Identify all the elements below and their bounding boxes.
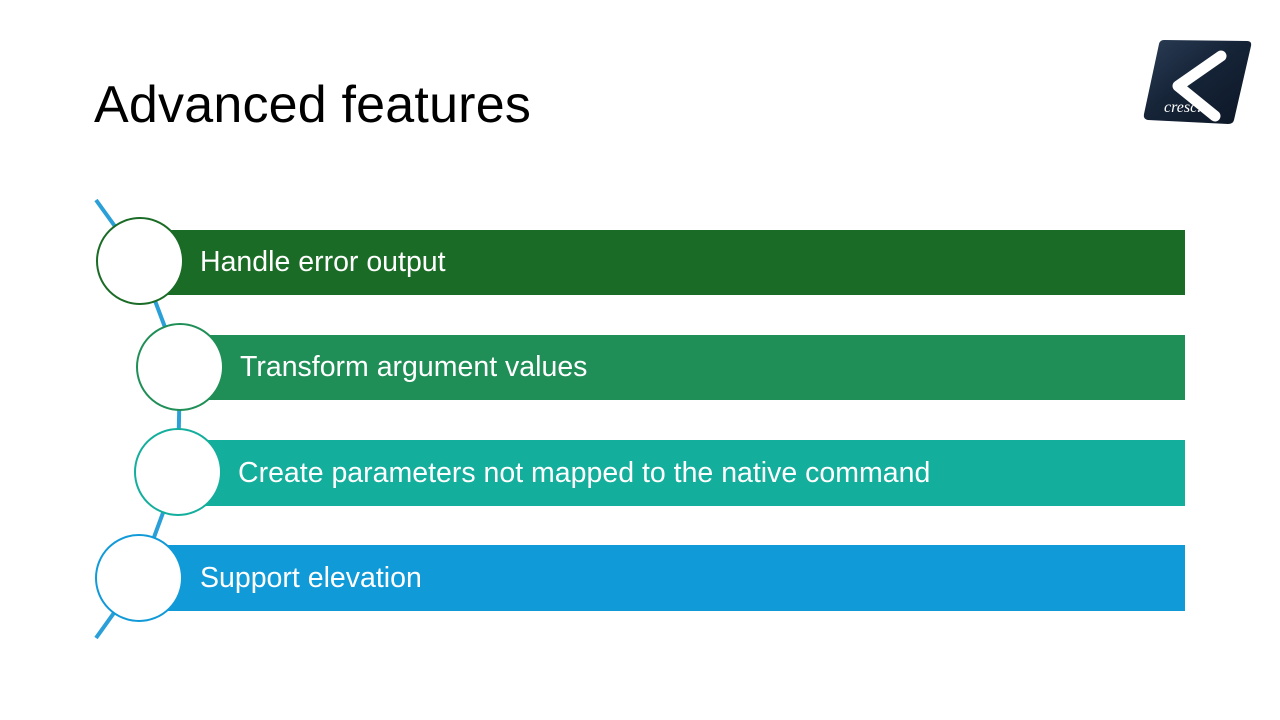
advanced-features-diagram: Handle error output Transform argument v…	[0, 0, 1280, 720]
feature-bar-2[interactable]: Transform argument values	[208, 335, 1185, 400]
feature-marker-circle-3	[134, 428, 222, 516]
feature-bar-2-label: Transform argument values	[240, 351, 587, 384]
feature-marker-circle-4	[95, 534, 183, 622]
feature-bar-4-label: Support elevation	[200, 562, 422, 595]
feature-bar-3[interactable]: Create parameters not mapped to the nati…	[206, 440, 1185, 506]
feature-marker-circle-2	[136, 323, 224, 411]
feature-marker-circle-1	[96, 217, 184, 305]
feature-bar-1[interactable]: Handle error output	[168, 230, 1185, 295]
feature-bar-1-label: Handle error output	[200, 246, 446, 279]
feature-bar-3-label: Create parameters not mapped to the nati…	[238, 457, 930, 490]
slide-canvas: Advanced features cresc.	[0, 0, 1280, 720]
feature-bar-4[interactable]: Support elevation	[168, 545, 1185, 611]
